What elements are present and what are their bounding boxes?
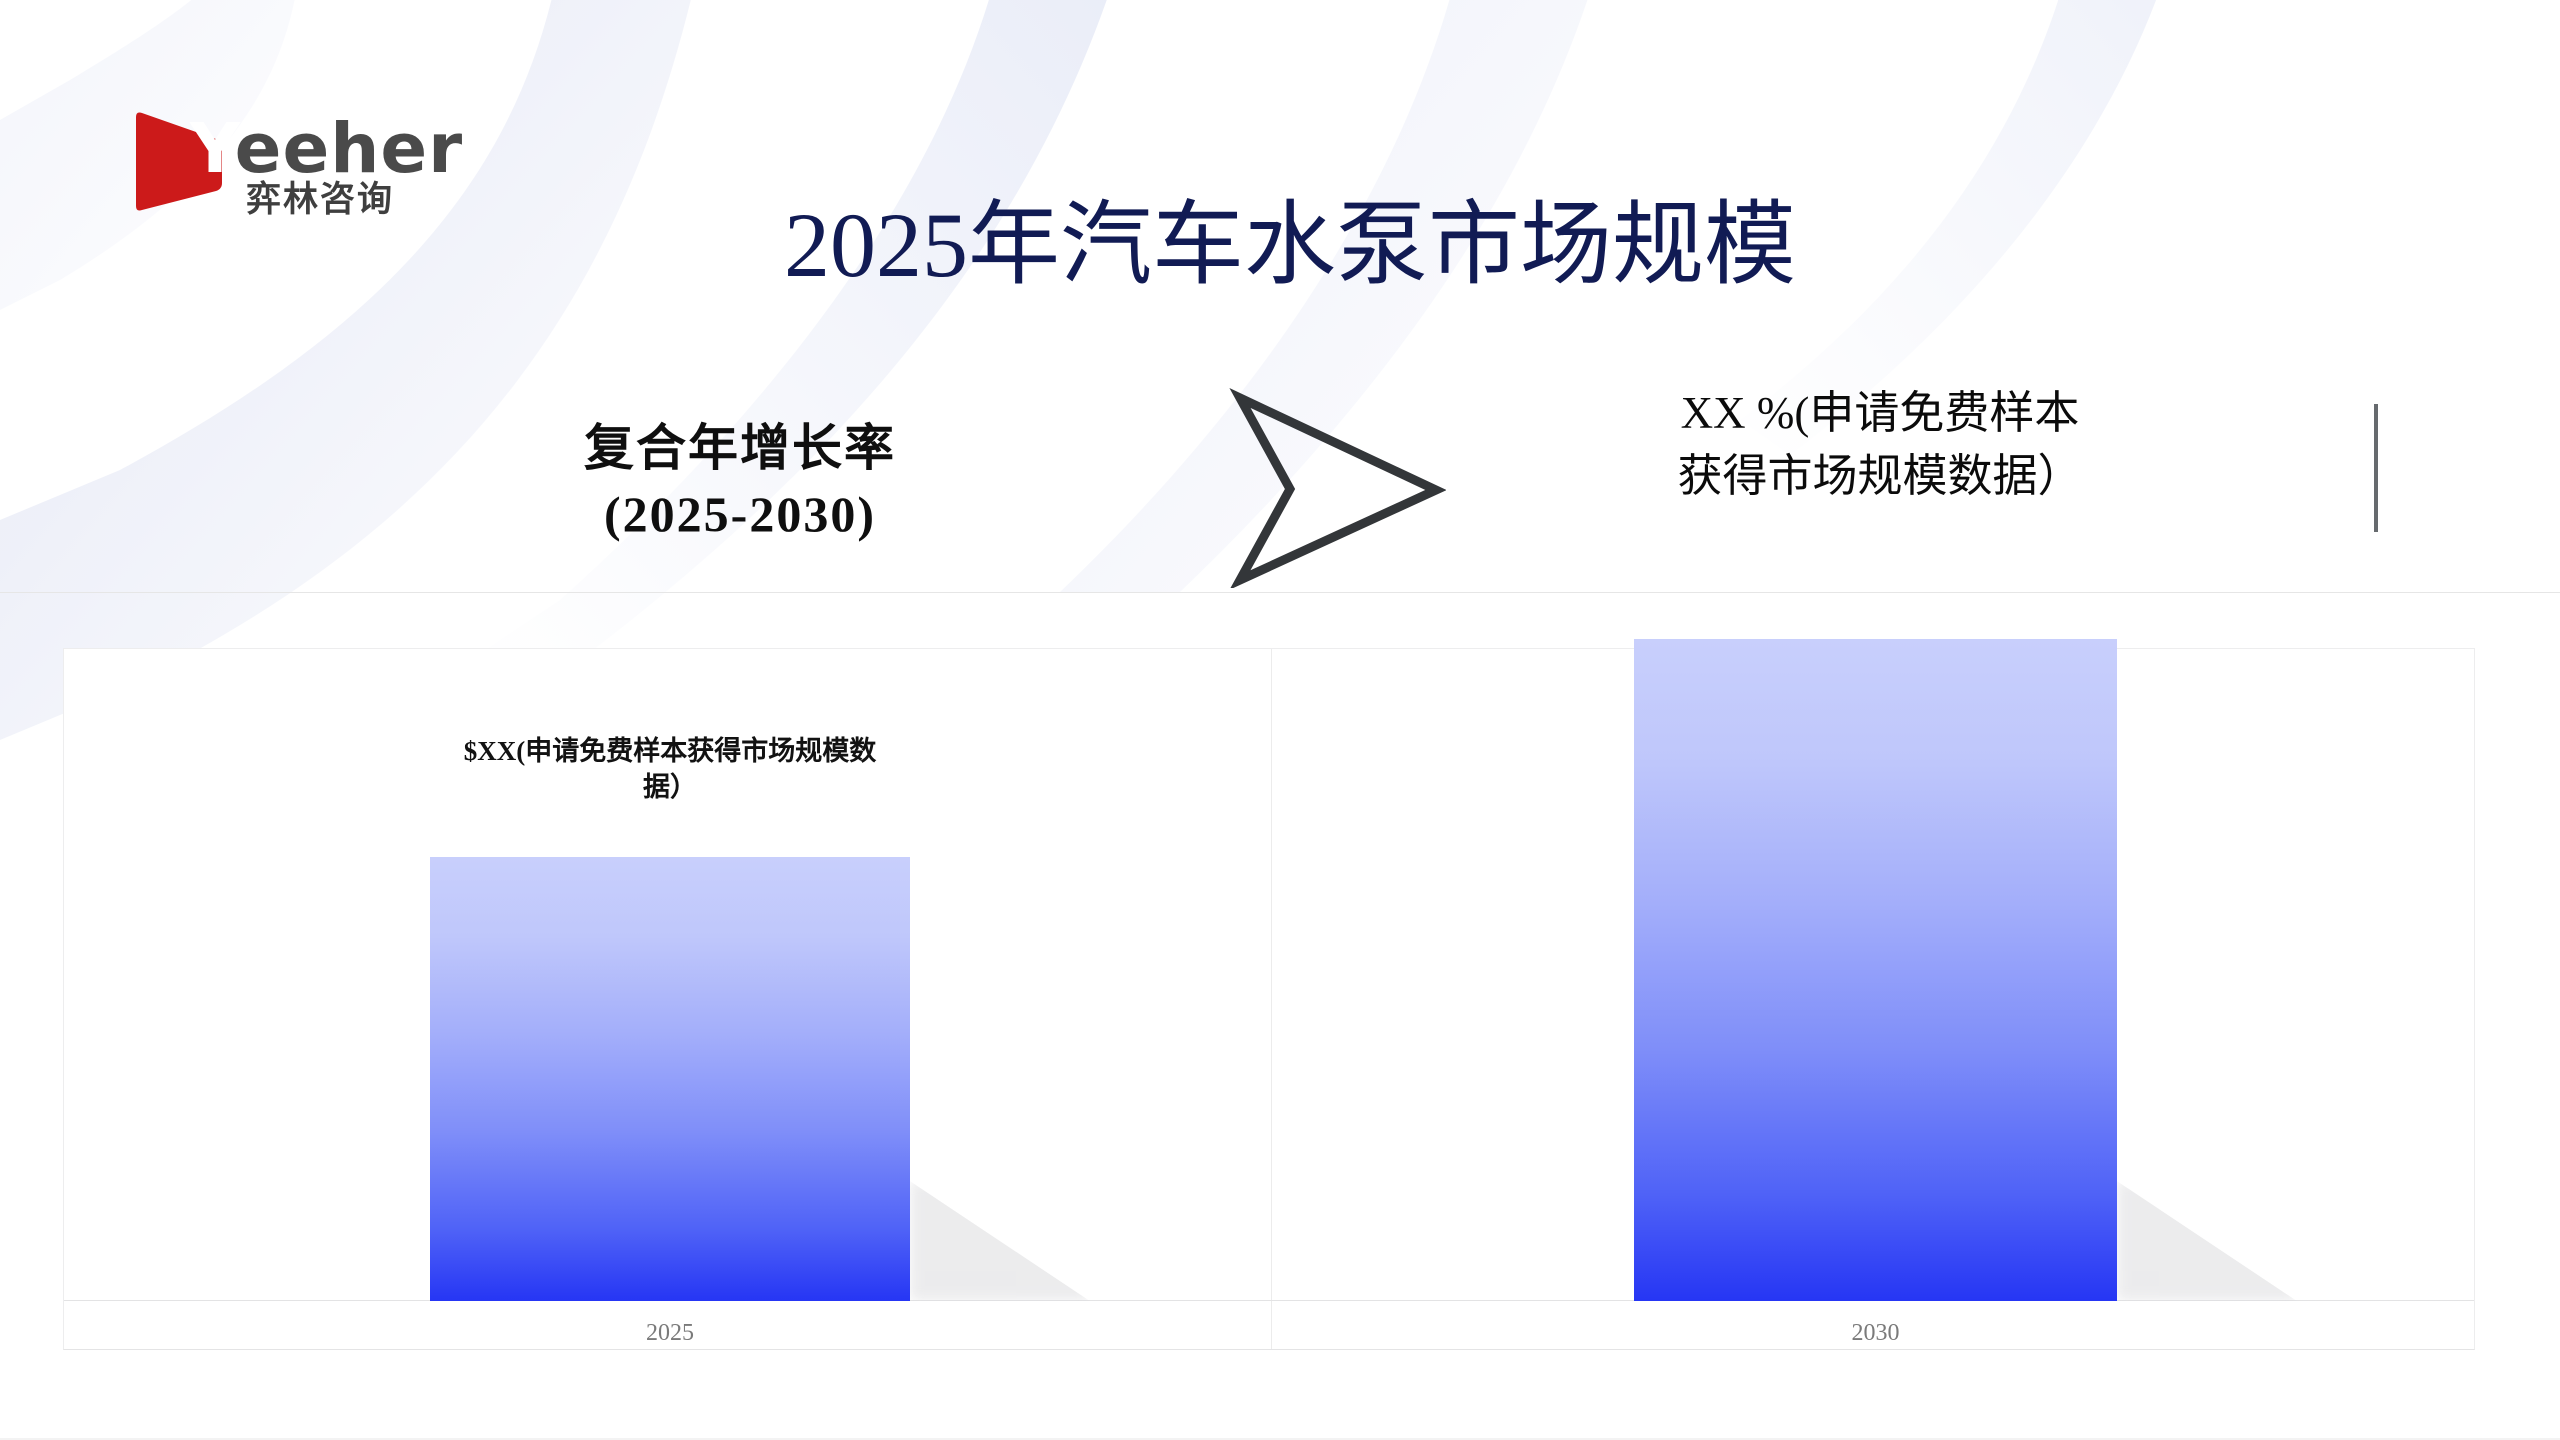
logo-rest: eeher [235, 109, 464, 189]
logo-initial: Y [190, 109, 235, 189]
axis-tick-2025: 2025 [646, 1319, 694, 1347]
bar-chart: $XX(申请免费样本获得市场规模数据） 2025 2030 [63, 648, 2475, 1350]
cagr-period: (2025-2030) [430, 481, 1050, 547]
bar-2025-value-label: $XX(申请免费样本获得市场规模数据） [460, 733, 880, 805]
cagr-value-line-1: XX %(申请免费样本 [1600, 382, 2160, 445]
bar-2030[interactable]: 2030 [1634, 639, 2117, 1301]
axis-tick-2030: 2030 [1852, 1319, 1900, 1347]
page-title: 2025年汽车水泵市场规模 [700, 190, 1880, 300]
bar-2025-shadow [910, 1181, 1090, 1301]
bar-2025[interactable]: $XX(申请免费样本获得市场规模数据） 2025 [430, 857, 910, 1301]
bar-2030-fill [1634, 639, 2117, 1301]
slide-root: Yeeher 弈林咨询 2025年汽车水泵市场规模 复合年增长率 (2025-2… [0, 0, 2560, 1440]
arrow-right-icon [1226, 388, 1446, 588]
header-horizontal-rule [0, 592, 2560, 593]
bar-2030-shadow [2117, 1181, 2297, 1301]
brand-logo: Yeeher 弈林咨询 [128, 105, 458, 215]
cagr-value-text: XX %(申请免费样本 获得市场规模数据） [1600, 382, 2160, 508]
logo-wordmark: Yeeher [190, 113, 463, 185]
cagr-block: 复合年增长率 (2025-2030) [430, 415, 1050, 547]
cagr-label: 复合年增长率 [430, 415, 1050, 481]
cagr-value-line-2: 获得市场规模数据） [1600, 445, 2160, 508]
slide-header: Yeeher 弈林咨询 2025年汽车水泵市场规模 复合年增长率 (2025-2… [0, 0, 2560, 593]
header-vertical-divider [2374, 404, 2378, 532]
bar-2025-fill: $XX(申请免费样本获得市场规模数据） [430, 857, 910, 1301]
chart-panel-divider [1271, 649, 1272, 1349]
logo-subtitle: 弈林咨询 [246, 181, 394, 219]
